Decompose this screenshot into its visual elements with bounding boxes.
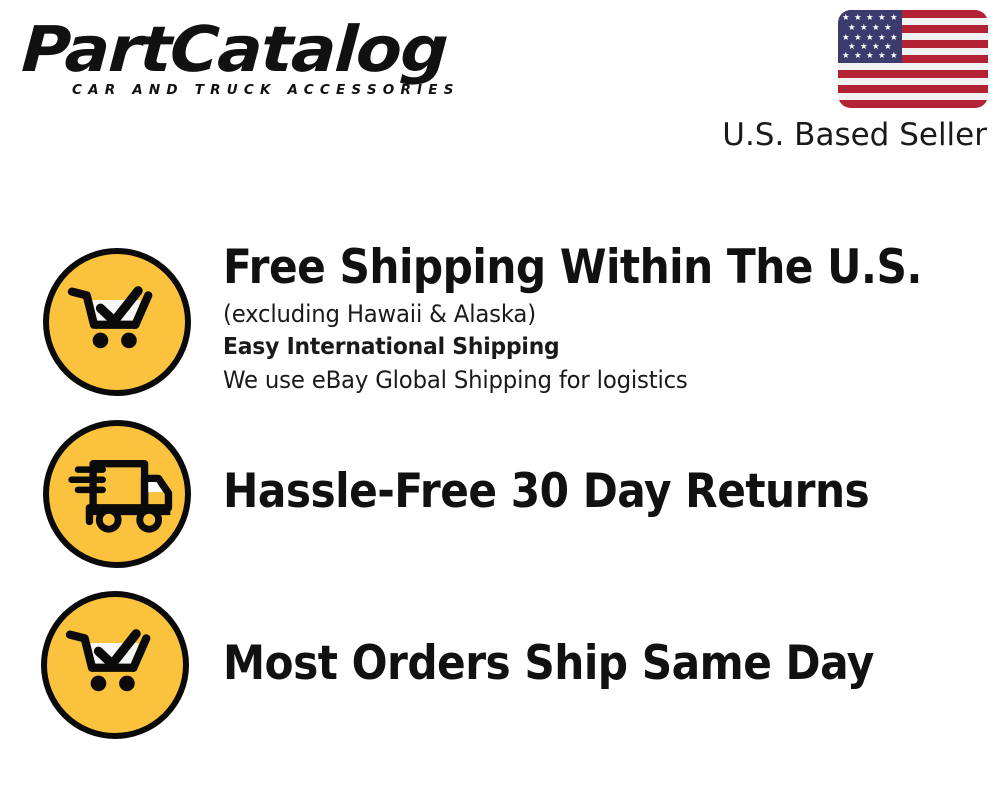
feature-text-block: Most Orders Ship Same Day [223, 638, 963, 690]
flag-stripe [838, 70, 988, 78]
shopping-cart-check-icon [41, 591, 189, 739]
page-header: PartCatalog CAR AND TRUCK ACCESSORIES ★ … [0, 0, 1000, 175]
feature-row-free-shipping: Free Shipping Within The U.S. (excluding… [0, 248, 1000, 420]
flag-star: ★ [842, 14, 850, 23]
feature-subline: We use eBay Global Shipping for logistic… [223, 364, 926, 397]
flag-star: ★ [854, 52, 862, 61]
flag-star: ★ [866, 14, 874, 23]
flag-star: ★ [866, 52, 874, 61]
brand-wordmark: PartCatalog [20, 18, 522, 81]
flag-star: ★ [854, 14, 862, 23]
flag-star: ★ [878, 14, 886, 23]
brand-logo[interactable]: PartCatalog CAR AND TRUCK ACCESSORIES [22, 18, 492, 104]
flag-star: ★ [872, 24, 880, 33]
feature-subline: (excluding Hawaii & Alaska) [223, 298, 926, 331]
flag-star: ★ [890, 14, 898, 23]
feature-subline-bold: Easy International Shipping [223, 331, 926, 364]
flag-star: ★ [890, 52, 898, 61]
feature-row-returns: Hassle-Free 30 Day Returns [0, 420, 1000, 592]
brand-tagline-row: CAR AND TRUCK ACCESSORIES [22, 82, 492, 104]
flag-star: ★ [848, 24, 856, 33]
us-flag-icon: ★ ★ ★ ★ ★ ★ ★ ★ ★ ★ ★ ★ ★ ★ ★ ★ ★ ★ ★ ★ … [838, 10, 988, 108]
flag-star: ★ [878, 52, 886, 61]
flag-canton: ★ ★ ★ ★ ★ ★ ★ ★ ★ ★ ★ ★ ★ ★ ★ ★ ★ ★ ★ ★ … [838, 10, 902, 63]
delivery-truck-icon [43, 420, 191, 568]
flag-stripe [838, 85, 988, 93]
feature-text-block: Hassle-Free 30 Day Returns [223, 466, 963, 518]
shopping-cart-check-icon [43, 248, 191, 396]
flag-stripe [838, 100, 988, 108]
brand-tagline: CAR AND TRUCK ACCESSORIES [72, 82, 460, 98]
flag-star: ★ [842, 52, 850, 61]
feature-text-block: Free Shipping Within The U.S. (excluding… [223, 242, 963, 397]
feature-headline: Free Shipping Within The U.S. [223, 242, 889, 294]
feature-row-same-day-ship: Most Orders Ship Same Day [0, 591, 1000, 751]
feature-headline: Hassle-Free 30 Day Returns [223, 466, 889, 518]
feature-headline: Most Orders Ship Same Day [223, 638, 889, 690]
flag-star: ★ [860, 24, 868, 33]
us-based-seller-caption: U.S. Based Seller [722, 118, 987, 152]
flag-star: ★ [884, 24, 892, 33]
